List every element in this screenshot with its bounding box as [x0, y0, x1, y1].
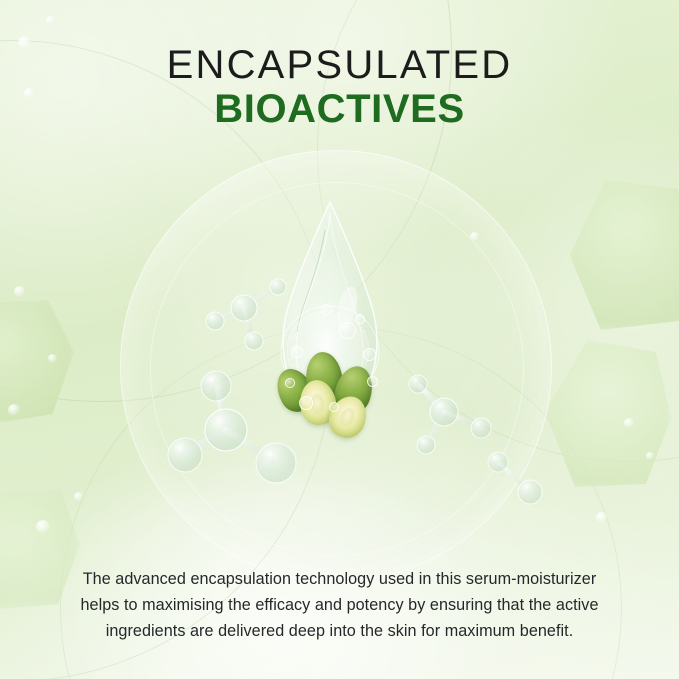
- droplet-bubble: [291, 346, 303, 358]
- headline-secondary: BIOACTIVES: [0, 86, 679, 133]
- droplet-bubble: [329, 402, 339, 412]
- droplet-bubble: [339, 322, 356, 339]
- molecule-bottom-right: [470, 438, 560, 528]
- sparkle-bubble: [46, 16, 54, 24]
- sparkle-bubble: [74, 492, 83, 501]
- droplet-bubble: [363, 348, 376, 361]
- headline-primary: ENCAPSULATED: [0, 44, 679, 86]
- caption-block: The advanced encapsulation technology us…: [60, 566, 620, 644]
- droplet-bubble: [355, 314, 365, 324]
- sparkle-bubble: [646, 452, 654, 460]
- droplet-bubble: [299, 396, 313, 410]
- olive-pit: [338, 406, 357, 428]
- sparkle-bubble: [624, 418, 634, 428]
- caption-line-2: helps to maximising the efficacy and pot…: [60, 592, 620, 618]
- sparkle-bubble: [14, 286, 25, 297]
- droplet-bubble: [285, 378, 295, 388]
- droplet-bubble: [321, 304, 332, 315]
- headline-block: ENCAPSULATED BIOACTIVES: [0, 44, 679, 134]
- sparkle-bubble: [8, 404, 20, 416]
- sparkle-bubble: [470, 232, 479, 241]
- sparkle-bubble: [48, 354, 57, 363]
- caption-line-1: The advanced encapsulation technology us…: [60, 566, 620, 592]
- sparkle-bubble: [596, 512, 607, 523]
- water-droplet: [255, 200, 405, 455]
- caption-line-3: ingredients are delivered deep into the …: [60, 618, 620, 644]
- infographic-canvas: ENCAPSULATED BIOACTIVES: [0, 0, 679, 679]
- droplet-bubble: [367, 376, 378, 387]
- sparkle-bubble: [36, 520, 50, 534]
